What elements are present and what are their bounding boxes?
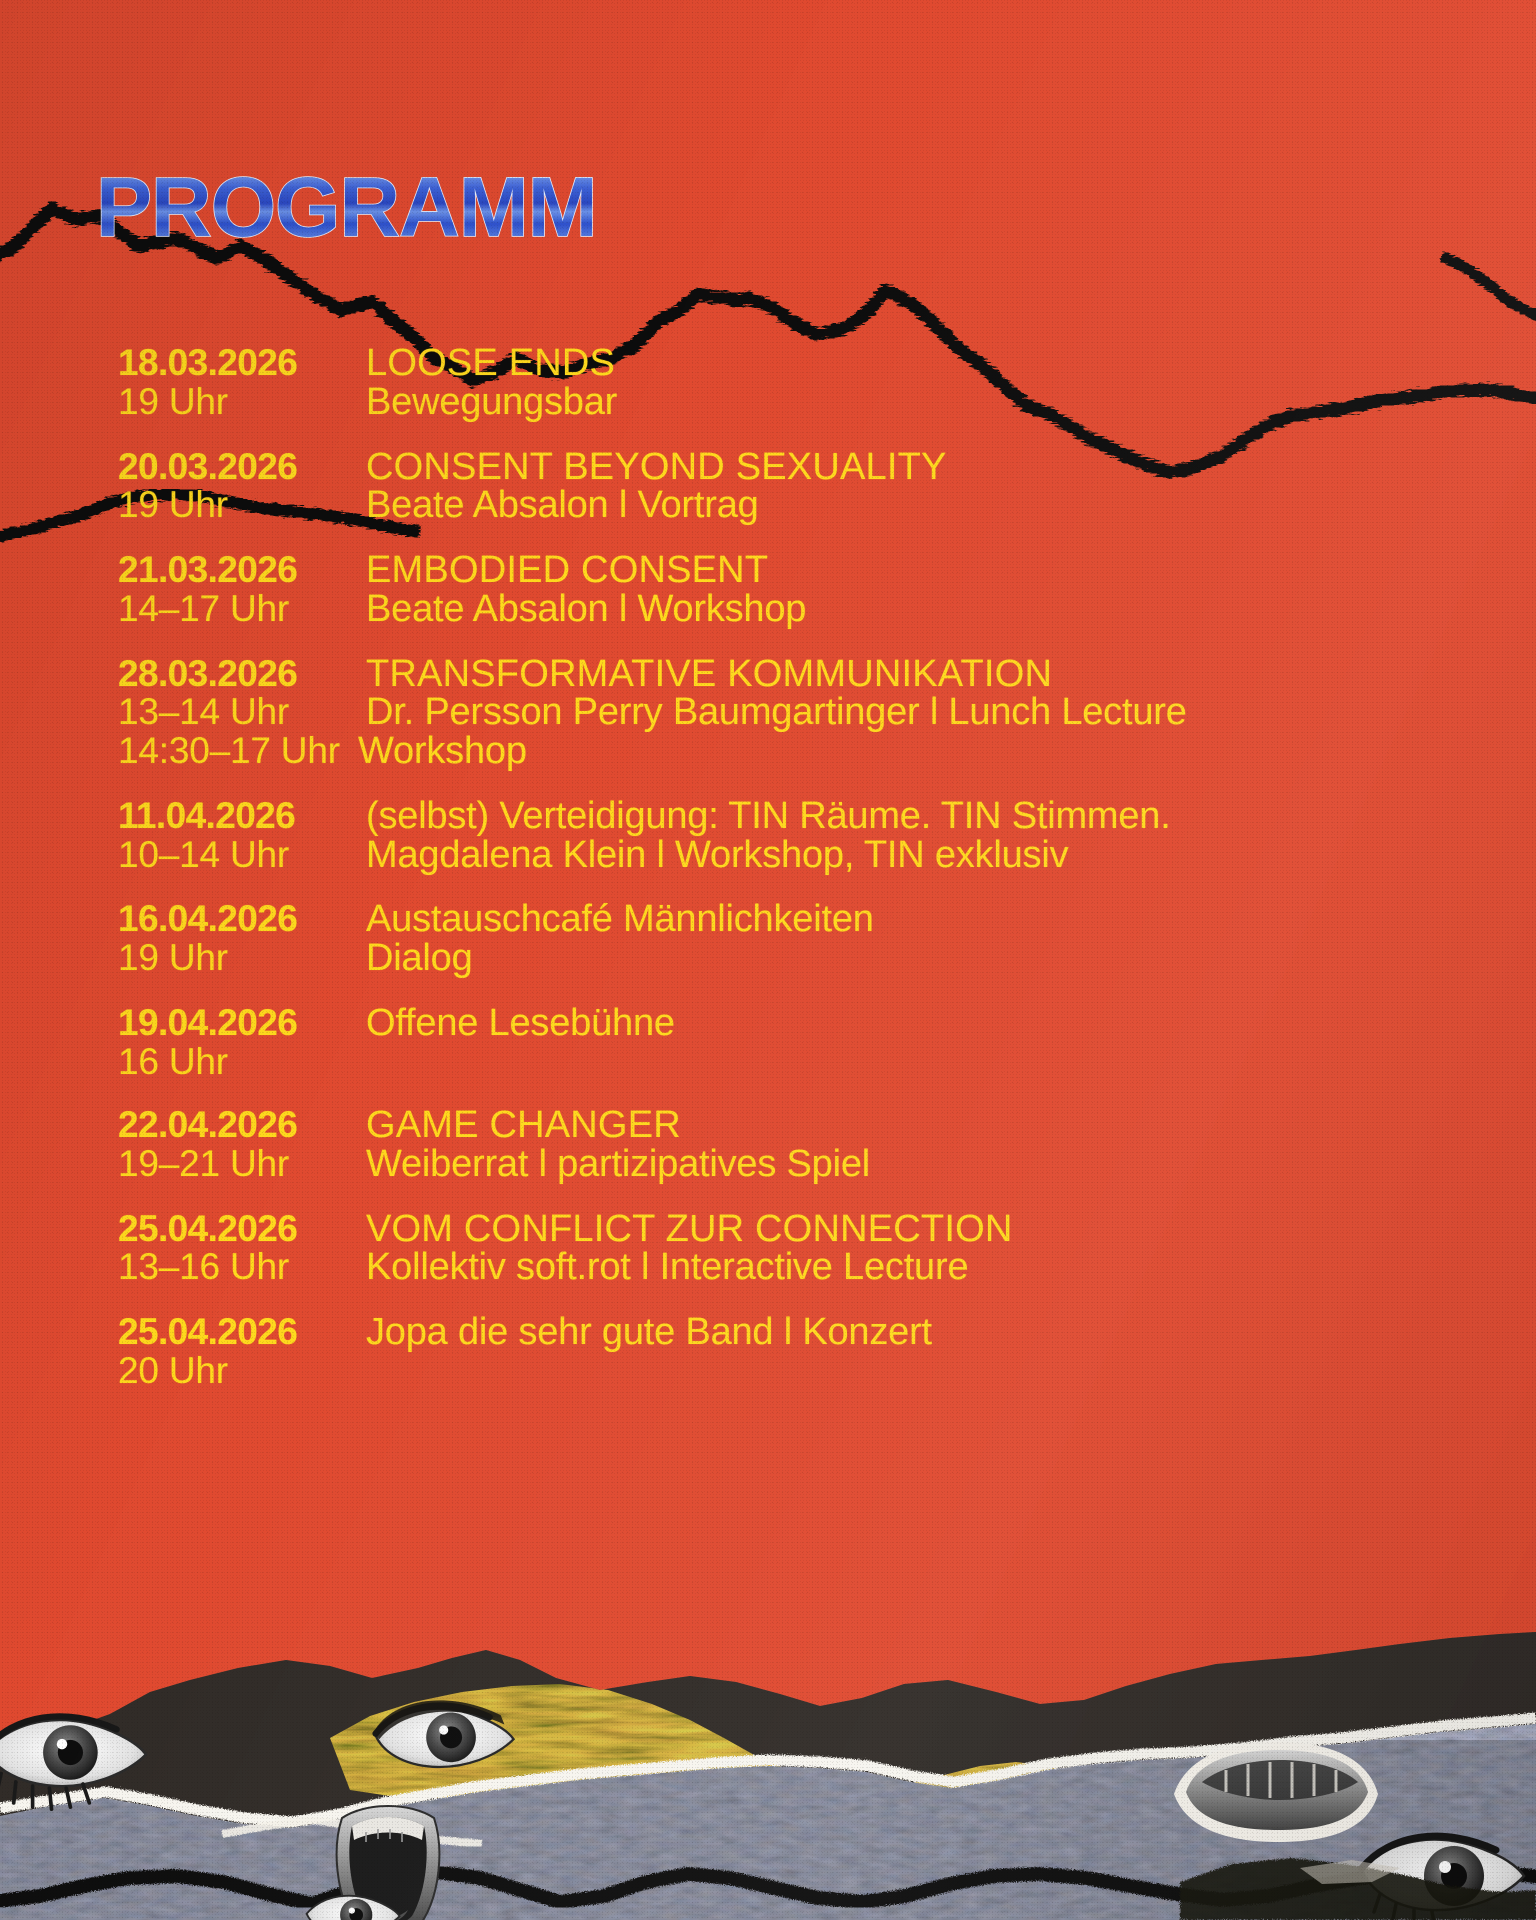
eye-icon [1362,1836,1524,1920]
program-entry: 22.04.2026 GAME CHANGER 19–21 Uhr Weiber… [118,1106,1518,1184]
program-entry: 21.03.2026 EMBODIED CONSENT 14–17 Uhr Be… [118,551,1518,629]
entry-time: 14–17 Uhr [118,590,366,628]
smiling-mouth-icon [1174,1742,1378,1842]
entry-time: 10–14 Uhr [118,836,366,874]
svg-text:PROGRAMM: PROGRAMM [96,160,597,254]
entry-detail: Beate Absalon l Workshop [366,590,806,629]
program-row-title: 16.04.2026 Austauschcafé Männlichkeiten [118,900,1518,939]
program-row-title: 19.04.2026 Offene Lesebühne [118,1004,1518,1043]
entry-detail: Weiberrat l partizipatives Spiel [366,1145,870,1184]
program-row-detail-secondary: 14:30–17 Uhr Workshop [118,732,1518,771]
program-entry: 25.04.2026 Jopa die sehr gute Band l Kon… [118,1313,1518,1389]
program-entry: 19.04.2026 Offene Lesebühne 16 Uhr [118,1004,1518,1080]
entry-date: 25.04.2026 [118,1210,366,1248]
entry-time: 16 Uhr [118,1043,366,1081]
program-row-title: 11.04.2026 (selbst) Verteidigung: TIN Rä… [118,797,1518,836]
entry-title: Offene Lesebühne [366,1004,675,1043]
program-row-detail: 19 Uhr Dialog [118,939,1518,978]
entry-time: 13–14 Uhr [118,693,366,731]
entry-detail: Beate Absalon l Vortrag [366,486,759,525]
program-row-detail: 19 Uhr Beate Absalon l Vortrag [118,486,1518,525]
eye-icon [374,1700,514,1767]
entry-detail: Dr. Persson Perry Baumgartinger l Lunch … [366,693,1187,732]
entry-title: TRANSFORMATIVE KOMMUNIKATION [366,655,1052,694]
title-chrome-text: PROGRAMM [92,158,792,258]
entry-date: 16.04.2026 [118,900,366,938]
entry-detail: Dialog [366,939,473,978]
entry-time: 19 Uhr [118,383,366,421]
program-entry: 28.03.2026 TRANSFORMATIVE KOMMUNIKATION … [118,655,1518,771]
entry-title: Jopa die sehr gute Band l Konzert [366,1313,932,1352]
entry-time: 19 Uhr [118,939,366,977]
entry-date: 19.04.2026 [118,1004,366,1042]
program-row-detail: 19 Uhr Bewegungsbar [118,383,1518,422]
program-row-title: 22.04.2026 GAME CHANGER [118,1106,1518,1145]
entry-detail-secondary: Workshop [358,732,527,771]
program-entry: 16.04.2026 Austauschcafé Männlichkeiten … [118,900,1518,978]
entry-date: 22.04.2026 [118,1106,366,1144]
entry-time: 19 Uhr [118,486,366,524]
entry-date: 20.03.2026 [118,448,366,486]
program-row-title: 25.04.2026 Jopa die sehr gute Band l Kon… [118,1313,1518,1352]
entry-detail: Kollektiv soft.rot l Interactive Lecture [366,1248,968,1287]
entry-detail: Bewegungsbar [366,383,617,422]
open-mouth-icon [337,1806,440,1920]
program-row-detail: 16 Uhr [118,1043,1518,1081]
entry-title: EMBODIED CONSENT [366,551,768,590]
program-row-detail: 14–17 Uhr Beate Absalon l Workshop [118,590,1518,629]
bottom-collage [0,1620,1536,1920]
entry-time: 13–16 Uhr [118,1248,366,1286]
eye-icon [0,1716,146,1809]
entry-title: (selbst) Verteidigung: TIN Räume. TIN St… [366,797,1171,836]
program-row-title: 20.03.2026 CONSENT BEYOND SEXUALITY [118,448,1518,487]
program-row-title: 18.03.2026 LOOSE ENDS [118,344,1518,383]
entry-time-secondary: 14:30–17 Uhr [118,732,358,770]
program-row-title: 28.03.2026 TRANSFORMATIVE KOMMUNIKATION [118,655,1518,694]
program-row-title: 25.04.2026 VOM CONFLICT ZUR CONNECTION [118,1210,1518,1249]
program-entry: 11.04.2026 (selbst) Verteidigung: TIN Rä… [118,797,1518,875]
program-list: 18.03.2026 LOOSE ENDS 19 Uhr Bewegungsba… [118,344,1518,1416]
entry-detail: Magdalena Klein l Workshop, TIN exklusiv [366,836,1068,875]
poster-title: PROGRAMM [92,158,792,258]
poster-canvas: PROGRAMM 18.03.2026 LOOSE ENDS 19 Uhr Be… [0,0,1536,1920]
program-entry: 18.03.2026 LOOSE ENDS 19 Uhr Bewegungsba… [118,344,1518,422]
entry-date: 28.03.2026 [118,655,366,693]
entry-date: 21.03.2026 [118,551,366,589]
program-row-detail: 13–16 Uhr Kollektiv soft.rot l Interacti… [118,1248,1518,1287]
entry-title: GAME CHANGER [366,1106,681,1145]
program-row-detail: 19–21 Uhr Weiberrat l partizipatives Spi… [118,1145,1518,1184]
entry-title: LOOSE ENDS [366,344,615,383]
entry-time: 19–21 Uhr [118,1145,366,1183]
program-row-detail: 13–14 Uhr Dr. Persson Perry Baumgartinge… [118,693,1518,732]
entry-date: 11.04.2026 [118,797,366,835]
entry-time: 20 Uhr [118,1352,366,1390]
program-row-detail: 10–14 Uhr Magdalena Klein l Workshop, TI… [118,836,1518,875]
eye-icon [307,1896,400,1920]
program-row-detail: 20 Uhr [118,1352,1518,1390]
entry-title: CONSENT BEYOND SEXUALITY [366,448,947,487]
entry-title: VOM CONFLICT ZUR CONNECTION [366,1210,1012,1249]
entry-date: 18.03.2026 [118,344,366,382]
entry-title: Austauschcafé Männlichkeiten [366,900,874,939]
entry-date: 25.04.2026 [118,1313,366,1351]
program-row-title: 21.03.2026 EMBODIED CONSENT [118,551,1518,590]
program-entry: 20.03.2026 CONSENT BEYOND SEXUALITY 19 U… [118,448,1518,526]
program-entry: 25.04.2026 VOM CONFLICT ZUR CONNECTION 1… [118,1210,1518,1288]
